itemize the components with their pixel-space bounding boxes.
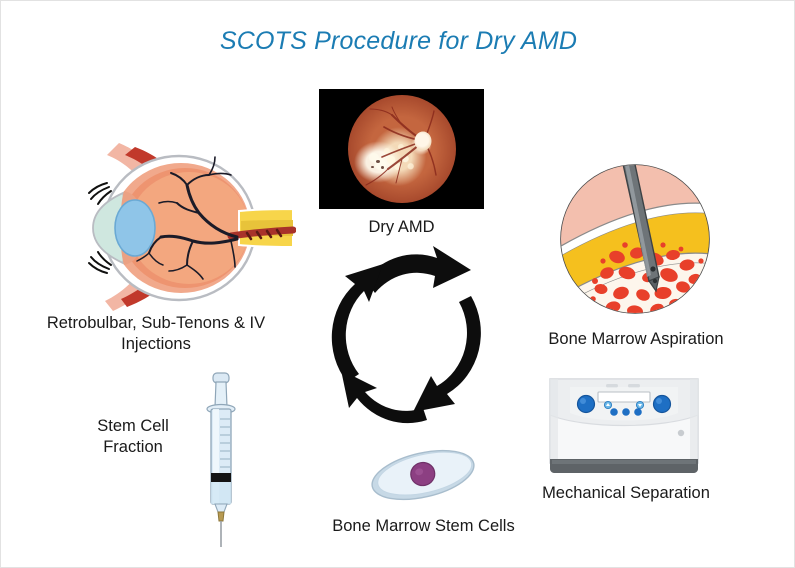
retinal-vessels-svg [348,95,456,203]
stem-cell-illustration [366,448,481,503]
syringe-svg [197,369,245,549]
label-mechanical-separation: Mechanical Separation [516,483,736,504]
eye-anatomy-svg [61,141,296,316]
label-dry-amd: Dry AMD [319,217,484,238]
stem-cell-svg [366,448,481,503]
fundus-photograph [319,89,484,209]
bone-marrow-aspiration-illustration [559,161,711,317]
optic-disc [415,132,432,151]
page-title: SCOTS Procedure for Dry AMD [1,27,795,56]
bone-marrow-svg [559,161,711,317]
label-bone-marrow-stem-cells: Bone Marrow Stem Cells [301,516,546,537]
pigment-spot [376,160,380,163]
label-injections: Retrobulbar, Sub-Tenons & IV Injections [11,313,301,355]
retina-globe [348,95,456,203]
syringe-illustration [197,369,245,549]
centrifuge-svg [544,371,704,479]
circular-process-arrows [321,244,501,434]
label-stem-cell-fraction: Stem Cell Fraction [73,416,193,458]
label-bone-marrow-aspiration: Bone Marrow Aspiration [521,329,751,350]
eye-anatomy-diagram [61,141,296,316]
centrifuge-machine [544,371,704,479]
cycle-arrows-svg [321,244,501,434]
slide-canvas: SCOTS Procedure for Dry AMD [0,0,795,568]
